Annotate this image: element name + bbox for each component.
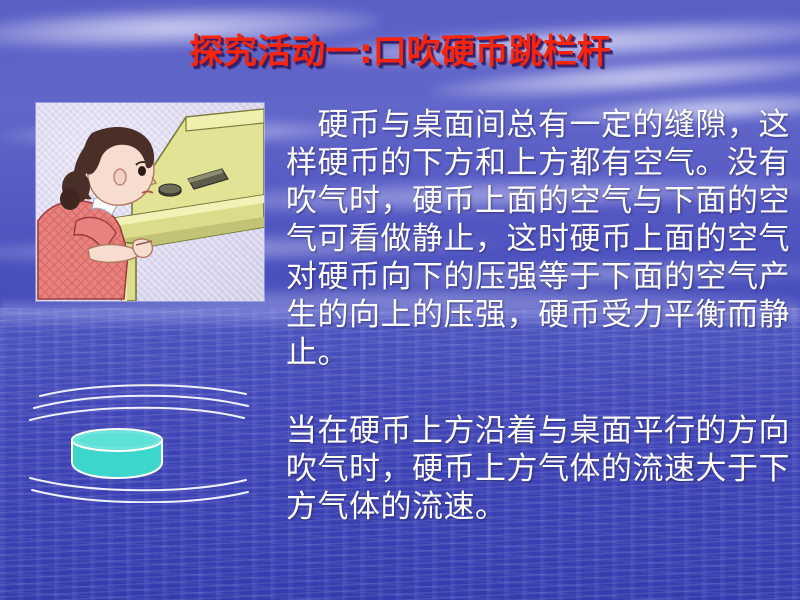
airflow-svg (28, 378, 278, 503)
flow-line-above-icon (40, 385, 246, 396)
flow-line-above-group (30, 385, 248, 420)
body-paragraph-1: 硬币与桌面间总有一定的缝隙，这样硬币的下方和上方都有空气。没有吹气时，硬币上面的… (286, 106, 794, 372)
flow-line-above-icon (34, 396, 248, 408)
flow-line-below-group (30, 478, 248, 502)
slide-canvas: 探究活动一:口吹硬币跳栏杆 (0, 0, 800, 600)
flow-line-above-icon (30, 408, 244, 420)
coin-shape (72, 429, 162, 478)
coin-airflow-diagram (28, 378, 278, 503)
illustration-artwork (36, 103, 264, 301)
flow-line-below-icon (30, 478, 246, 490)
body-paragraph-2: 当在硬币上方沿着与桌面平行的方向吹气时，硬币上方气体的流速大于下方气体的流速。 (286, 412, 794, 526)
flow-line-below-icon (32, 490, 248, 502)
page-title: 探究活动一:口吹硬币跳栏杆 (0, 33, 800, 72)
illustration-image (36, 103, 264, 301)
